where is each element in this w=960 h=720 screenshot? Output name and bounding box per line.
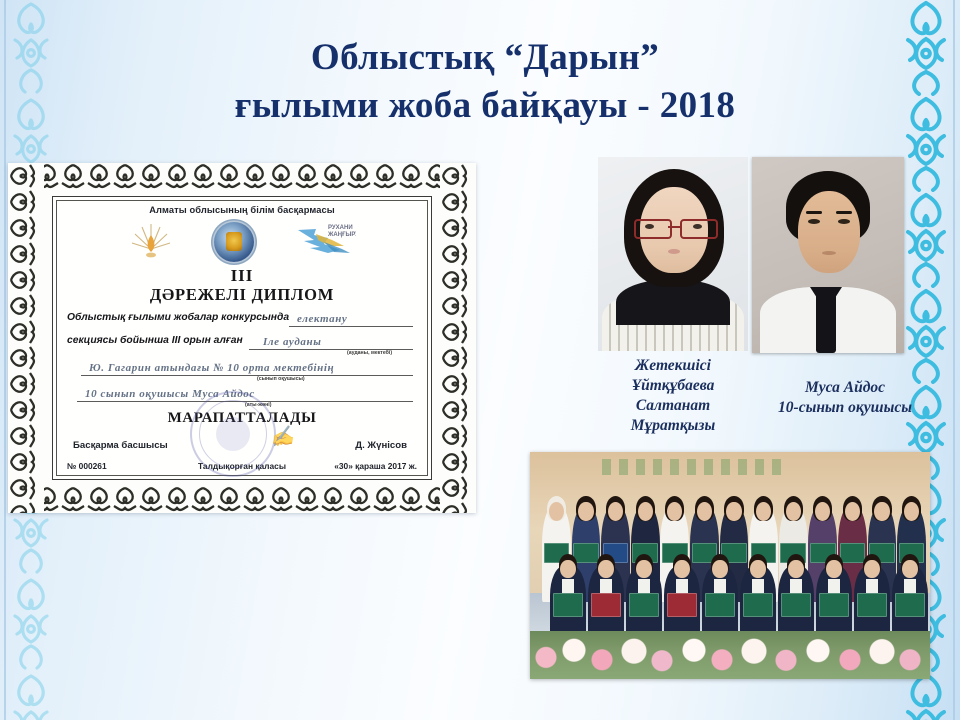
diploma-field-label: Облыстық ғылыми жобалар конкурсында — [67, 312, 289, 323]
student-caption-line: Муса Айдос — [740, 378, 950, 398]
diploma-border-left — [8, 163, 44, 513]
photo-person-head — [826, 560, 841, 578]
diploma-degree: III — [67, 267, 417, 284]
diploma-signature-name: Д. Жүнісов — [355, 440, 407, 451]
photo-person-head — [578, 502, 593, 521]
photo-diploma-folder — [840, 543, 866, 563]
photo-person-head — [864, 560, 879, 578]
diploma-field-value: Іле ауданы — [263, 336, 321, 348]
diploma-certificate-image: Алматы облысының білім басқармасы — [8, 163, 476, 513]
diploma-border-top — [8, 163, 476, 190]
photo-person-head — [638, 502, 653, 521]
student-portrait-photo — [752, 157, 904, 353]
diploma-field-row: Облыстық ғылыми жобалар конкурсында елек… — [67, 311, 417, 328]
diploma-signature-row: Басқарма басшысы Д. Жүнісов — [67, 438, 417, 456]
photo-person-head — [549, 502, 564, 521]
diploma-organization: Алматы облысының білім басқармасы — [67, 205, 417, 215]
diploma-field-row: 10 сынып оқушысы Муса Айдос (аты-жөні) — [67, 386, 417, 403]
photo-person-head — [560, 560, 575, 578]
svg-text:РУХАНИ: РУХАНИ — [328, 225, 353, 231]
title-line-1: Облыстық “Дарын” — [311, 37, 659, 78]
state-emblem-icon — [214, 222, 254, 262]
photo-diploma-folder — [573, 543, 599, 563]
diploma-field-sublabel: (сынып оқушысы) — [257, 376, 305, 382]
photo-person-head — [598, 560, 613, 578]
diploma-border-right — [440, 163, 476, 513]
diploma-field-row: Ю. Гагарин атындағы № 10 орта мектебінің… — [67, 360, 417, 377]
diploma-inner-frame: Алматы облысының білім басқармасы — [52, 196, 432, 480]
diploma-field-sublabel: (аты-жөні) — [245, 402, 271, 408]
photo-diploma-folder — [629, 593, 659, 617]
photo-diploma-folder — [667, 593, 697, 617]
photo-person-head — [786, 502, 801, 521]
diploma-logo-row: РУХАНИ ЖАҢҒЫРУ — [67, 220, 417, 264]
title-line-2: ғылыми жоба байқауы - 2018 — [120, 82, 850, 130]
photo-person-head — [674, 560, 689, 578]
photo-person-head — [712, 560, 727, 578]
photo-person-head — [874, 502, 889, 521]
svg-text:ЖАҢҒЫРУ: ЖАҢҒЫРУ — [327, 232, 356, 238]
photo-person-head — [845, 502, 860, 521]
diploma-field-value: 10 сынып оқушысы Муса Айдос — [85, 388, 255, 400]
diploma-date: «30» қараша 2017 ж. — [334, 461, 417, 471]
photo-diploma-folder — [781, 593, 811, 617]
left-edge-line — [4, 0, 6, 720]
photo-diploma-folder — [553, 593, 583, 617]
right-edge-line — [953, 0, 955, 720]
photo-person-head — [788, 560, 803, 578]
photo-diploma-folder — [591, 593, 621, 617]
diploma-signature-title: Басқарма басшысы — [73, 440, 168, 451]
diploma-footer-row: № 000261 Талдықорған қаласы «30» қараша … — [67, 461, 417, 473]
photo-flower-row — [530, 631, 930, 679]
student-caption-line: 10-сынып оқушысы — [740, 398, 950, 418]
ruhani-zhangyru-bird-icon: РУХАНИ ЖАҢҒЫРУ — [294, 220, 356, 265]
diploma-document-type: ДӘРЕЖЕЛІ ДИПЛОМ — [67, 285, 417, 305]
diploma-field-sublabel: (ауданы, мектебі) — [347, 350, 392, 356]
page-title: Облыстық “Дарын” ғылыми жоба байқауы - 2… — [120, 34, 850, 130]
photo-person-head — [902, 560, 917, 578]
photo-person-head — [750, 560, 765, 578]
diploma-border-bottom — [8, 486, 476, 513]
diploma-number: № 000261 — [67, 461, 107, 471]
group-award-photo — [530, 452, 930, 679]
photo-person-head — [636, 560, 651, 578]
teacher-portrait-photo — [598, 157, 748, 351]
diploma-field-value: Ю. Гагарин атындағы № 10 орта мектебінің — [89, 362, 334, 374]
photo-diploma-folder — [819, 593, 849, 617]
diploma-field-row: секциясы бойынша III орын алған Іле ауда… — [67, 334, 417, 351]
presentation-slide: Облыстық “Дарын” ғылыми жоба байқауы - 2… — [0, 0, 960, 720]
diploma-field-value: електану — [297, 313, 347, 325]
teacher-caption-line: Жетекшісі — [578, 356, 768, 376]
photo-diploma-folder — [895, 593, 925, 617]
diploma-award-word: МАРАПАТТАЛАДЫ — [67, 410, 417, 427]
diploma-field-label: секциясы бойынша III орын алған — [67, 335, 243, 346]
student-caption: Муса Айдос 10-сынып оқушысы — [740, 378, 950, 418]
handwritten-signature: ✍ — [268, 423, 295, 450]
photo-diploma-folder — [705, 593, 735, 617]
flame-emblem-icon — [128, 219, 174, 266]
photo-person-head — [726, 502, 741, 521]
photo-person-head — [697, 502, 712, 521]
photo-diploma-folder — [857, 593, 887, 617]
photo-diploma-folder — [743, 593, 773, 617]
diploma-city: Талдықорған қаласы — [198, 461, 286, 471]
teacher-caption-line: Мұратқызы — [578, 416, 768, 436]
